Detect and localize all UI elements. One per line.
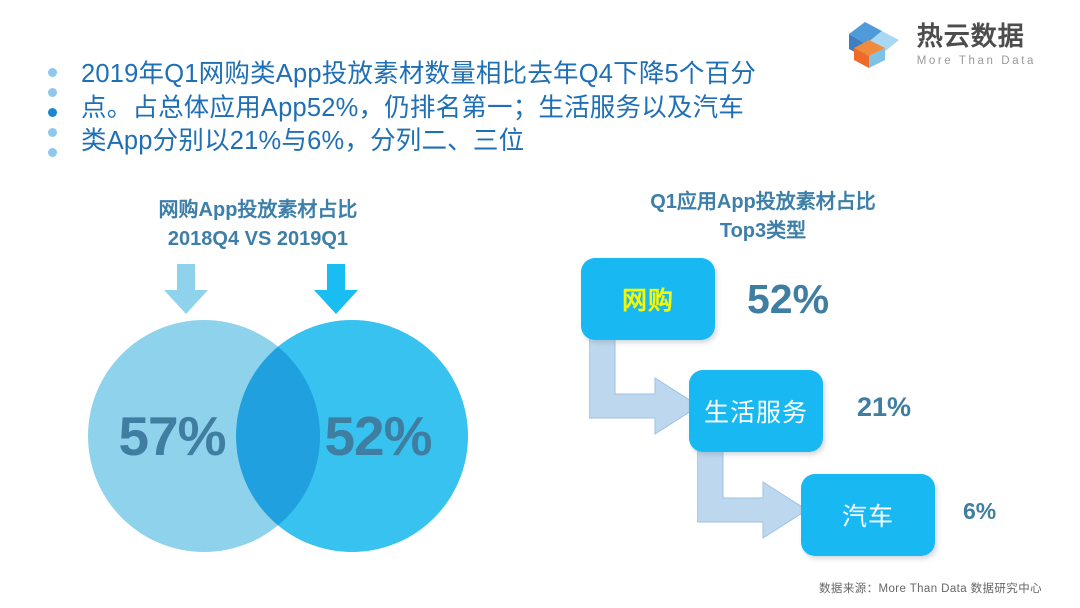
flow-box-label: 网购 (622, 281, 674, 317)
connector-arrow-1-icon (589, 334, 705, 438)
ribbon-cube-logo-icon (845, 18, 905, 72)
flow-percent-shenghuofuwu: 21% (857, 392, 911, 423)
logo-text-block: 热云数据 More Than Data (917, 23, 1036, 68)
venn-value-2019q1: 52% (324, 404, 431, 468)
logo-company-name: 热云数据 (917, 23, 1025, 49)
bullet-dot (48, 128, 57, 137)
top3-flow-chart: 网购 52% 生活服务 21% 汽车 6% (575, 250, 1035, 570)
right-chart-title: Q1应用App投放素材占比 Top3类型 (608, 188, 918, 246)
venn-circle-2019q1: 52% (236, 320, 468, 552)
flow-box-qiche[interactable]: 汽车 (801, 474, 935, 556)
arrow-down-icon (160, 264, 212, 316)
flow-box-wanggou[interactable]: 网购 (581, 258, 715, 340)
bullet-dot-active (48, 108, 57, 117)
bullet-dot (48, 148, 57, 157)
flow-box-shenghuofuwu[interactable]: 生活服务 (689, 370, 823, 452)
headline-block: 2019年Q1网购类App投放素材数量相比去年Q4下降5个百分 点。占总体应用A… (48, 58, 756, 159)
headline-paragraph: 2019年Q1网购类App投放素材数量相比去年Q4下降5个百分 点。占总体应用A… (81, 58, 756, 159)
slide-canvas: 热云数据 More Than Data 2019年Q1网购类App投放素材数量相… (0, 0, 1080, 608)
data-source-note: 数据来源：More Than Data 数据研究中心 (819, 580, 1042, 596)
left-chart-title: 网购App投放素材占比 2018Q4 VS 2019Q1 (108, 196, 408, 254)
brand-logo: 热云数据 More Than Data (845, 18, 1036, 72)
bullet-dot (48, 88, 57, 97)
flow-percent-qiche: 6% (963, 498, 996, 525)
flow-box-label: 生活服务 (704, 393, 808, 429)
flow-box-label: 汽车 (842, 497, 894, 533)
venn-value-2018q4: 57% (118, 404, 225, 468)
connector-arrow-2-icon (697, 438, 813, 542)
bullet-dot (48, 68, 57, 77)
bullet-dot-column (48, 58, 57, 157)
flow-percent-wanggou: 52% (747, 276, 829, 323)
logo-tagline: More Than Data (917, 56, 1036, 68)
arrow-down-icon (310, 264, 362, 316)
venn-diagram: 57% 52% (88, 262, 468, 552)
